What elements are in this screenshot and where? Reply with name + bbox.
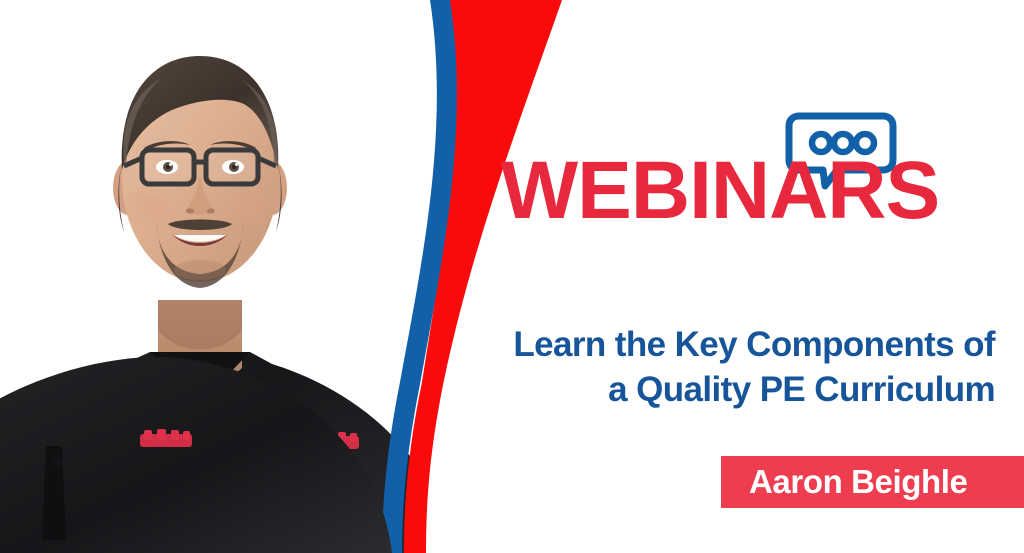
headline: Learn the Key Components of a Quality PE… <box>440 322 995 412</box>
content-column: WEBINARS Learn the Key Components of a Q… <box>440 0 1024 553</box>
webinar-promo-banner: WEBINARS Learn the Key Components of a Q… <box>0 0 1024 553</box>
shirt-button-lower <box>196 458 205 467</box>
chin-shadow <box>174 260 226 280</box>
shirt-button-upper <box>196 404 205 413</box>
webinars-wordmark: WEBINARS <box>440 148 1000 234</box>
headline-line-2: a Quality PE Curriculum <box>440 367 995 412</box>
headline-line-1: Learn the Key Components of <box>440 322 995 367</box>
nostril-right <box>207 208 215 213</box>
speaker-photo <box>0 0 430 553</box>
lens-right <box>209 153 255 181</box>
lens-left <box>145 153 191 181</box>
chest-logo <box>307 431 359 449</box>
nostril-left <box>186 208 194 213</box>
speaker-portrait-illustration <box>0 0 430 553</box>
speaker-name-banner: Aaron Beighle <box>721 456 1024 508</box>
speaker-name: Aaron Beighle <box>721 463 968 501</box>
placket <box>194 366 206 440</box>
